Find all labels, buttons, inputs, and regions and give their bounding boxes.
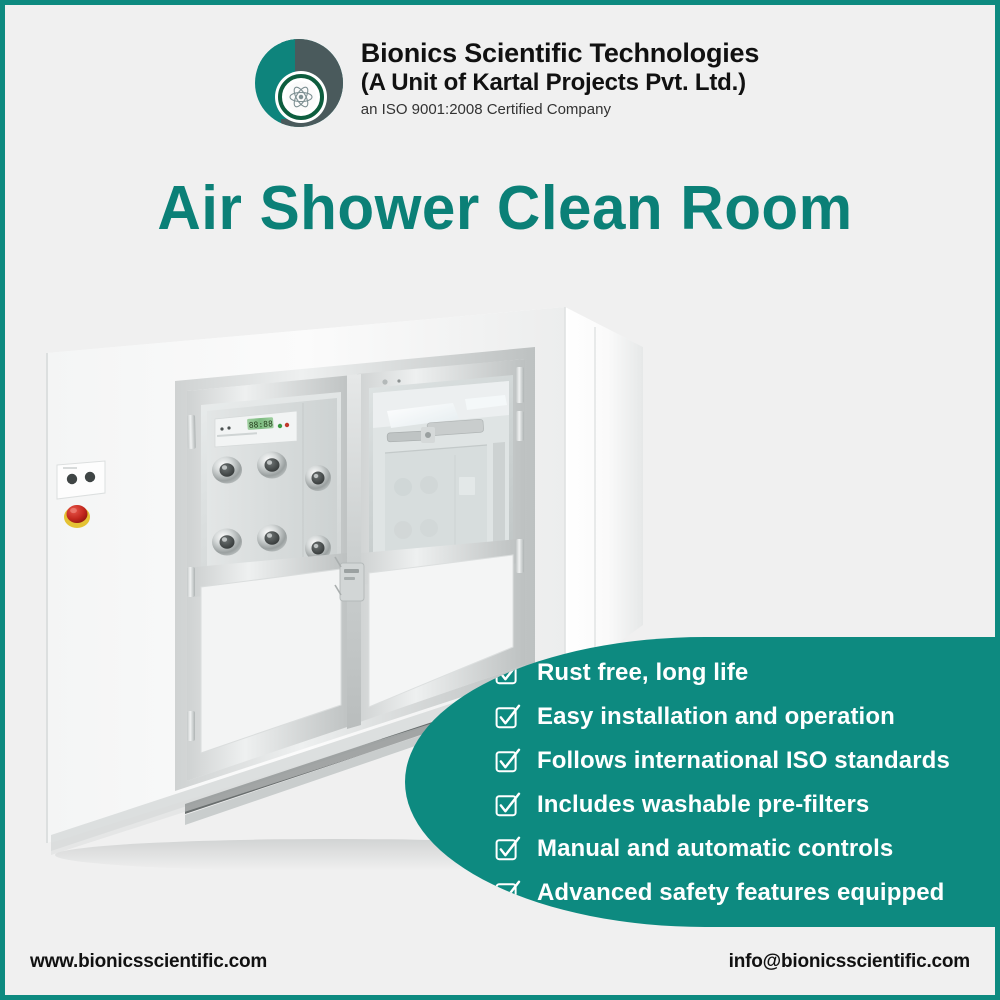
checkbox-checked-icon (495, 704, 521, 730)
company-name: Bionics Scientific Technologies (361, 39, 759, 68)
feature-label: Follows international ISO standards (537, 747, 950, 775)
iso-certification-line: an ISO 9001:2008 Certified Company (361, 101, 759, 119)
cabin-side-face (565, 307, 643, 681)
header: Bionics Scientific Technologies (A Unit … (5, 35, 1000, 145)
logo-block: Bionics Scientific Technologies (A Unit … (251, 35, 759, 145)
checkbox-checked-icon (495, 880, 521, 906)
checkbox-checked-icon (495, 836, 521, 862)
feature-item: Easy installation and operation (495, 695, 1000, 739)
feature-label: Easy installation and operation (537, 703, 895, 731)
website-link[interactable]: www.bionicsscientific.com (30, 951, 267, 973)
door-mullion (347, 374, 361, 729)
footer: www.bionicsscientific.com info@bionicssc… (5, 933, 995, 995)
checkbox-checked-icon (495, 792, 521, 818)
poster-canvas: Bionics Scientific Technologies (A Unit … (0, 0, 1000, 1000)
feature-label: Advanced safety features equipped (537, 879, 944, 907)
features-panel: Rust free, long life Easy installation a… (405, 637, 1000, 927)
feature-label: Manual and automatic controls (537, 835, 893, 863)
top-sensor (382, 379, 387, 384)
checkbox-checked-icon (495, 748, 521, 774)
checkbox-checked-icon (495, 660, 521, 686)
feature-label: Includes washable pre-filters (537, 791, 869, 819)
logo-text: Bionics Scientific Technologies (A Unit … (361, 35, 759, 119)
power-socket-plate (57, 461, 105, 499)
page-title: Air Shower Clean Room (20, 173, 990, 244)
feature-item: Includes washable pre-filters (495, 783, 1000, 827)
company-unit: (A Unit of Kartal Projects Pvt. Ltd.) (361, 69, 759, 97)
feature-label: Rust free, long life (537, 659, 748, 687)
door-handle (340, 563, 364, 601)
svg-text:88:88: 88:88 (249, 419, 274, 430)
feature-item: Manual and automatic controls (495, 827, 1000, 871)
bionics-circular-b-atom-logo-icon (251, 35, 347, 131)
feature-item: Rust free, long life (495, 651, 1000, 695)
features-list: Rust free, long life Easy installation a… (495, 651, 1000, 915)
email-link[interactable]: info@bionicsscientific.com (729, 951, 970, 973)
feature-item: Advanced safety features equipped (495, 871, 1000, 915)
feature-item: Follows international ISO standards (495, 739, 1000, 783)
